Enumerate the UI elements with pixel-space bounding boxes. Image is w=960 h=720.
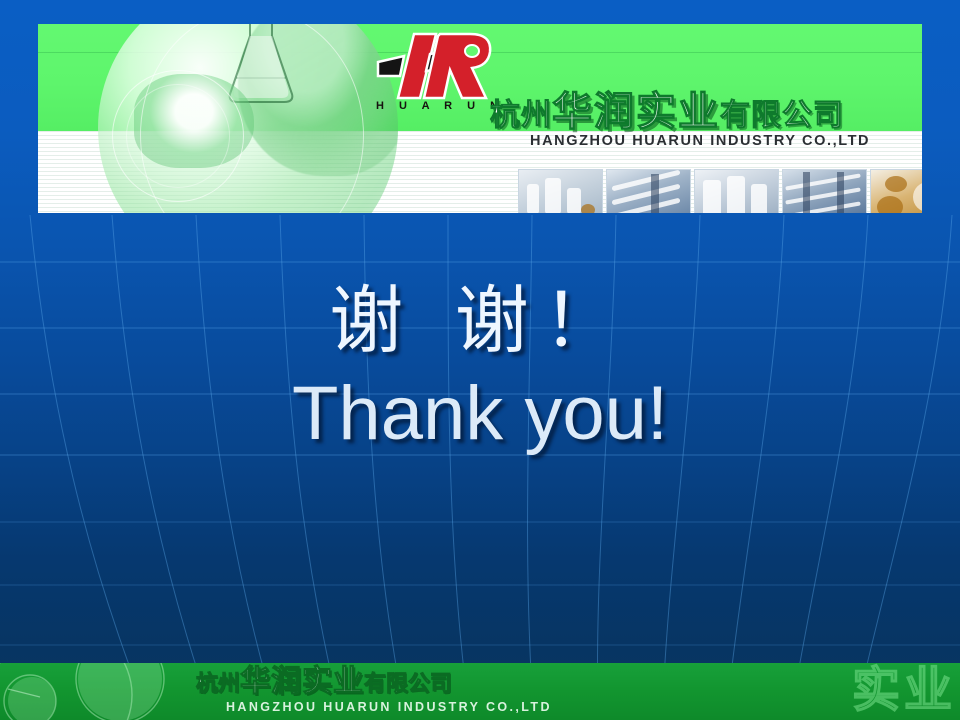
header-company-name-suffix: 有限公司: [720, 98, 844, 133]
logo-caption: H U A R U N: [376, 100, 504, 112]
company-footer-banner: 实业 杭州华润实业有限公司 HANGZHOU HUARUN INDUSTRY C…: [0, 663, 960, 720]
header-company-name-en: HANGZHOU HUARUN INDUSTRY CO.,LTD: [530, 133, 870, 149]
footer-company-name-suffix: 有限公司: [364, 672, 452, 697]
product-photo-dropper-bottles: [694, 169, 779, 213]
footer-company-name-cn: 杭州华润实业有限公司: [196, 667, 452, 697]
header-company-name-cn: 杭州华润实业有限公司: [490, 92, 844, 132]
product-photo-syringes: [782, 169, 867, 213]
main-message: 谢 谢！ Thank you!: [0, 282, 960, 452]
header-company-name-prefix: 杭州: [490, 98, 552, 133]
thank-you-english: Thank you!: [0, 376, 960, 452]
lab-circle-image: [98, 24, 398, 213]
footer-company-name-main: 华润实业: [240, 664, 364, 699]
presentation-slide: H U A R U N 杭州华润实业有限公司 HANGZHOU HUARUN I…: [0, 0, 960, 720]
footer-company-name-en: HANGZHOU HUARUN INDUSTRY CO.,LTD: [226, 700, 552, 714]
decorative-ring-2: [126, 84, 230, 188]
thank-you-chinese: 谢 谢！: [0, 282, 960, 362]
footer-watermark: 实业: [852, 665, 956, 715]
header-company-name-main: 华润实业: [552, 89, 720, 135]
company-header-banner: H U A R U N 杭州华润实业有限公司 HANGZHOU HUARUN I…: [38, 24, 922, 213]
flask-icon: [216, 24, 306, 108]
product-photo-strip: [518, 169, 922, 213]
product-photo-spray-bottles: [518, 169, 603, 213]
footer-company-name-prefix: 杭州: [196, 672, 240, 697]
microscope-photo: [134, 74, 254, 168]
product-photo-pipettes: [606, 169, 691, 213]
product-photo-amber-glassware: [870, 169, 922, 213]
